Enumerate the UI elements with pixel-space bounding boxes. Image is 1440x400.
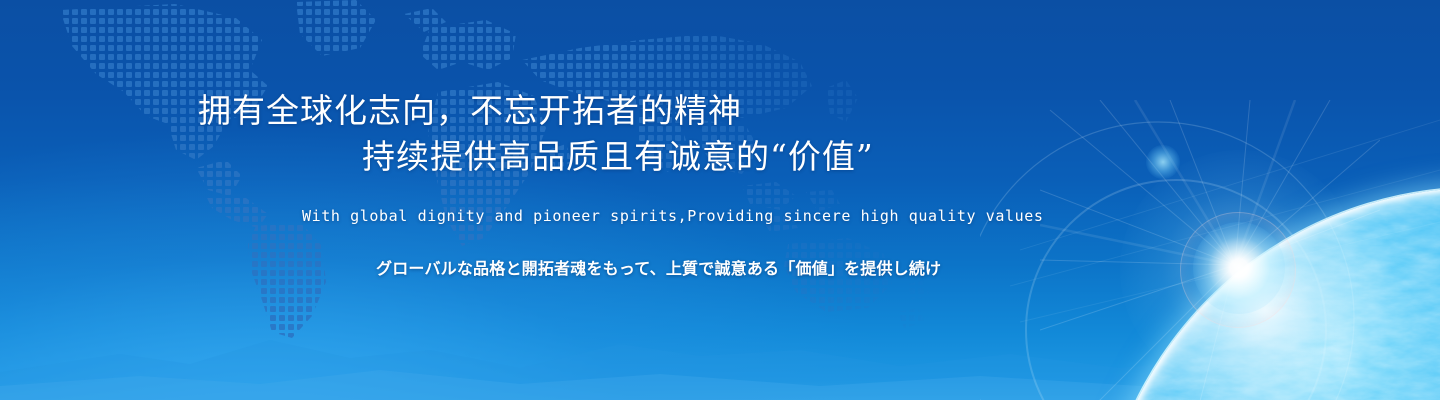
planet-graphic [980,0,1440,400]
planet-limb-glow [1096,186,1440,400]
mountain-silhouette [0,310,1440,400]
headline-line-1: 拥有全球化志向，不忘开拓者的精神 [0,88,920,134]
headline: 拥有全球化志向，不忘开拓者的精神 持续提供高品质且有诚意的“价值” [0,88,920,180]
planet-body [1098,188,1440,400]
headline-line-2: 持续提供高品质且有诚意的“价值” [0,134,920,180]
planet-cloud-texture [1098,188,1440,400]
banner-copy: 拥有全球化志向，不忘开拓者的精神 持续提供高品质且有诚意的“价值” With g… [0,0,1100,400]
lens-flare-dot [1146,145,1180,179]
sun-rays [1040,100,1380,400]
sun-glow [1120,150,1360,390]
lens-flare-ring [1180,212,1296,328]
subtitle-english: With global dignity and pioneer spirits,… [0,206,1100,226]
lens-flare-arcs [980,0,1440,400]
subtitle-japanese: グローバルな品格と開拓者魂をもって、上質で誠意ある「価値」を提供し続け [0,258,1100,280]
hero-banner: 拥有全球化志向，不忘开拓者的精神 持续提供高品质且有诚意的“价值” With g… [0,0,1440,400]
sun-core [1193,222,1285,314]
